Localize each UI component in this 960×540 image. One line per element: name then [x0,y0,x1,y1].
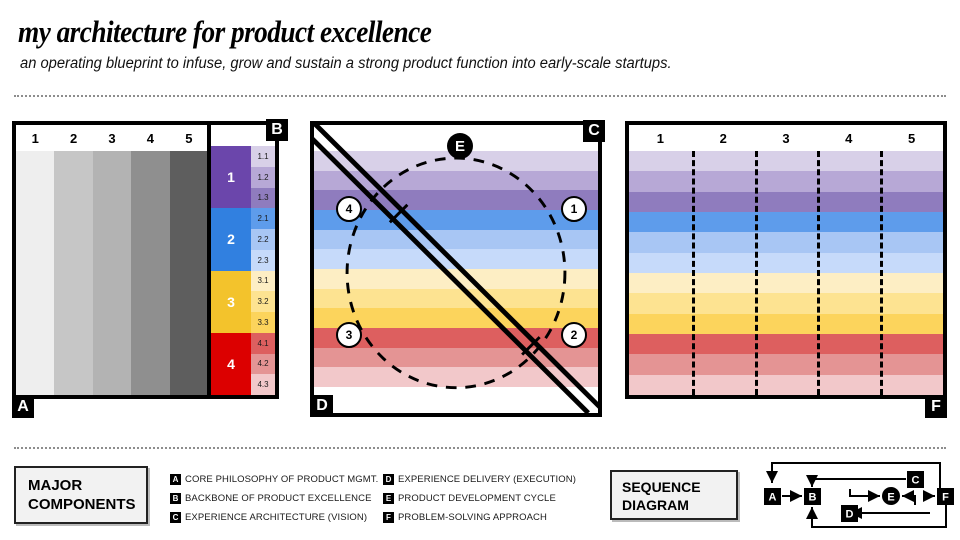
panel-a-col-2[interactable] [54,151,92,395]
panel-b-subs-4: 4.14.24.3 [251,333,275,395]
edge-c-to-b [812,479,906,487]
panel-c-experience-architecture[interactable] [310,121,602,417]
cycle-marker-3[interactable]: 3 [336,322,362,348]
diagonal-line-upper [310,121,602,409]
panel-a-columns [16,151,208,395]
panel-f-band-6 [629,253,943,273]
panel-b-group-label-1: 1 [211,146,251,208]
seq-node-e[interactable]: E [882,487,900,505]
divider-top [14,95,946,97]
panel-badge-a: A [12,396,34,418]
seq-node-c-label: C [912,475,920,487]
panel-b-groups: 11.11.21.322.12.22.333.13.23.344.14.24.3 [211,146,275,395]
sequence-diagram-graph[interactable]: A B C D E F [750,455,955,535]
legend-badge-c: C [170,512,181,523]
development-cycle-circle [347,158,565,388]
panel-f-divider-2 [755,151,758,395]
panel-f-band-5 [629,232,943,252]
panel-a-col-header-2: 2 [54,125,92,151]
panel-f-col-header-5: 5 [880,125,943,151]
cycle-marker-2[interactable]: 2 [561,322,587,348]
panel-f-col-header-3: 3 [755,125,818,151]
legend-badge-f: F [383,512,394,523]
panel-a-col-5[interactable] [170,151,208,395]
panel-f-band-2 [629,171,943,191]
panel-f-band-12 [629,375,943,395]
legend-item-f[interactable]: FPROBLEM-SOLVING APPROACH [383,508,576,526]
panel-f-divider-1 [692,151,695,395]
cycle-marker-4[interactable]: 4 [336,196,362,222]
panel-a-column-headers: 12345 [16,125,208,151]
legend-label-a: CORE PHILOSOPHY OF PRODUCT MGMT. [185,474,378,485]
legend-item-d[interactable]: DEXPERIENCE DELIVERY (EXECUTION) [383,470,576,488]
page-title: my architecture for product excellence [18,14,431,50]
panel-b-subs-3: 3.13.23.3 [251,271,275,333]
panel-a-col-3[interactable] [93,151,131,395]
panel-f-band-9 [629,314,943,334]
panel-a-core-philosophy[interactable]: 12345 [12,121,212,399]
panel-f-band-8 [629,293,943,313]
panel-b-group-label-4: 4 [211,333,251,395]
panel-f-divider-3 [817,151,820,395]
seq-node-a-label: A [769,492,777,504]
panel-b-sub-2.3[interactable]: 2.3 [251,250,275,271]
panel-b-group-1[interactable]: 11.11.21.3 [211,146,275,208]
major-components-line2: COMPONENTS [28,495,146,514]
panel-b-sub-3.1[interactable]: 3.1 [251,271,275,292]
sequence-diagram-line1: SEQUENCE [622,478,736,496]
sequence-diagram-label: SEQUENCE DIAGRAM [610,470,738,520]
cycle-marker-1[interactable]: 1 [561,196,587,222]
edge-d-to-e [850,489,880,496]
panel-badge-c: C [583,120,605,142]
seq-node-d-label: D [846,509,854,521]
panel-c-overlay [314,125,598,413]
panel-b-sub-1.2[interactable]: 1.2 [251,167,275,188]
panel-b-sub-4.3[interactable]: 4.3 [251,374,275,395]
panel-b-subs-1: 1.11.21.3 [251,146,275,208]
panel-b-sub-1.3[interactable]: 1.3 [251,188,275,209]
legend-label-c: EXPERIENCE ARCHITECTURE (VISION) [185,512,367,523]
panel-f-col-header-2: 2 [692,125,755,151]
diagonal-line-lower [310,137,588,413]
legend-label-f: PROBLEM-SOLVING APPROACH [398,512,547,523]
panel-f-band-10 [629,334,943,354]
panel-b-sub-4.2[interactable]: 4.2 [251,354,275,375]
panel-a-col-header-1: 1 [16,125,54,151]
panel-a-col-1[interactable] [16,151,54,395]
seq-node-e-label: E [887,492,894,504]
panel-badge-f: F [925,396,947,418]
panel-f-bands [629,151,943,395]
legend-badge-a: A [170,474,181,485]
panel-f-col-header-4: 4 [817,125,880,151]
legend-badge-e: E [383,493,394,504]
panel-f-band-4 [629,212,943,232]
panel-f-column-headers: 12345 [629,125,943,151]
panel-a-col-4[interactable] [131,151,169,395]
legend-item-b[interactable]: BBACKBONE OF PRODUCT EXCELLENCE [170,489,378,507]
legend-item-c[interactable]: CEXPERIENCE ARCHITECTURE (VISION) [170,508,378,526]
legend-label-d: EXPERIENCE DELIVERY (EXECUTION) [398,474,576,485]
legend-item-e[interactable]: EPRODUCT DEVELOPMENT CYCLE [383,489,576,507]
divider-bottom [14,447,946,449]
panel-b-group-4[interactable]: 44.14.24.3 [211,333,275,395]
panel-f-divider-4 [880,151,883,395]
seq-node-a[interactable]: A [764,488,781,505]
seq-node-f-label: F [942,492,949,504]
seq-node-f[interactable]: F [937,488,954,505]
legend-label-e: PRODUCT DEVELOPMENT CYCLE [398,493,556,504]
panel-f-band-7 [629,273,943,293]
legend-badge-d: D [383,474,394,485]
panel-f-band-1 [629,151,943,171]
panel-b-group-label-2: 2 [211,208,251,270]
legend-item-a[interactable]: ACORE PHILOSOPHY OF PRODUCT MGMT. [170,470,378,488]
panel-f-band-3 [629,192,943,212]
panel-b-sub-1.1[interactable]: 1.1 [251,146,275,167]
panel-a-col-header-3: 3 [93,125,131,151]
panel-f-problem-solving[interactable]: 12345 [625,121,947,399]
panel-b-sub-2.2[interactable]: 2.2 [251,229,275,250]
seq-node-c[interactable]: C [907,471,924,488]
panel-f-col-header-1: 1 [629,125,692,151]
panel-badge-d: D [311,395,333,417]
panel-f-band-11 [629,354,943,374]
sequence-diagram-line2: DIAGRAM [622,496,736,514]
major-components-line1: MAJOR [28,476,146,495]
panel-b-group-label-3: 3 [211,271,251,333]
edge-c-to-e [902,496,915,505]
panel-b-sub-3.3[interactable]: 3.3 [251,312,275,333]
panel-badge-e: E [447,133,473,159]
legend-column-2: DEXPERIENCE DELIVERY (EXECUTION)EPRODUCT… [383,470,576,527]
seq-node-b[interactable]: B [804,488,821,505]
legend-badge-b: B [170,493,181,504]
panel-badge-b: B [266,119,288,141]
page-header: my architecture for product excellence a… [0,0,960,96]
panel-b-backbone[interactable]: 11.11.21.322.12.22.333.13.23.344.14.24.3 [207,121,279,399]
panel-b-group-3[interactable]: 33.13.23.3 [211,271,275,333]
page-subtitle: an operating blueprint to infuse, grow a… [20,55,672,73]
legend-column-1: ACORE PHILOSOPHY OF PRODUCT MGMT.BBACKBO… [170,470,378,527]
panel-a-col-header-4: 4 [131,125,169,151]
panel-b-sub-3.2[interactable]: 3.2 [251,291,275,312]
seq-node-d[interactable]: D [841,505,858,522]
panel-b-sub-4.1[interactable]: 4.1 [251,333,275,354]
panel-b-group-2[interactable]: 22.12.22.3 [211,208,275,270]
legend-label-b: BACKBONE OF PRODUCT EXCELLENCE [185,493,372,504]
panel-b-sub-2.1[interactable]: 2.1 [251,208,275,229]
panel-a-col-header-5: 5 [170,125,208,151]
major-components-label: MAJOR COMPONENTS [14,466,148,524]
edge-bottom-loop [812,503,946,527]
panel-b-subs-2: 2.12.22.3 [251,208,275,270]
seq-node-b-label: B [809,492,817,504]
